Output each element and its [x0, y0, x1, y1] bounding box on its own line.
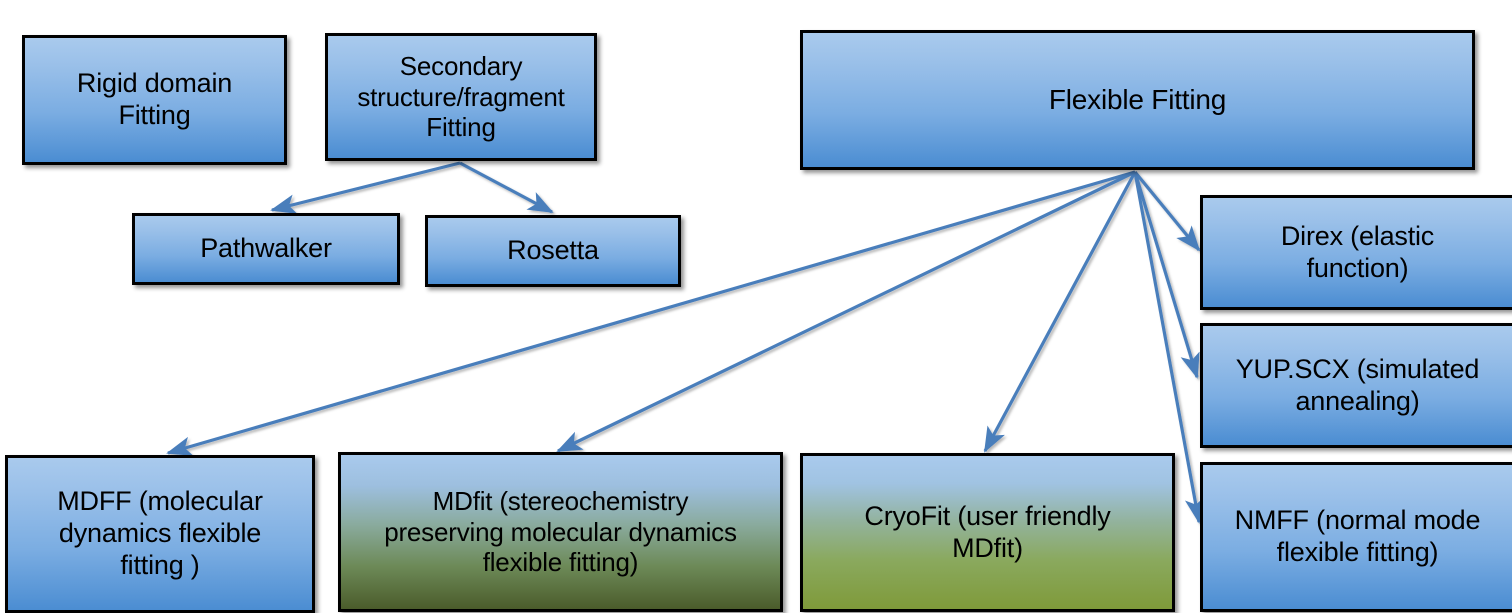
node-label-secondary-structure-fragment-fitting: Secondary structure/fragment Fitting	[357, 51, 564, 143]
edge-flexible-to-direx	[1135, 172, 1199, 250]
node-yup-scx[interactable]: YUP.SCX (simulated annealing)	[1200, 323, 1512, 448]
node-mdff[interactable]: MDFF (molecular dynamics flexible fittin…	[5, 455, 315, 613]
node-rosetta[interactable]: Rosetta	[425, 215, 681, 287]
node-label-nmff: NMFF (normal mode flexible fitting)	[1235, 505, 1481, 569]
node-label-cryofit: CryoFit (user friendly MDfit)	[864, 501, 1110, 565]
node-label-pathwalker: Pathwalker	[200, 233, 332, 265]
edge-flexible-to-cryofit	[985, 172, 1135, 451]
edge-flexible-to-mdfit	[558, 172, 1135, 451]
node-mdfit[interactable]: MDfit (stereochemistry preserving molecu…	[338, 452, 783, 612]
node-label-mdff: MDFF (molecular dynamics flexible fittin…	[57, 486, 263, 582]
node-label-rosetta: Rosetta	[507, 235, 599, 267]
node-nmff[interactable]: NMFF (normal mode flexible fitting)	[1200, 462, 1512, 612]
node-pathwalker[interactable]: Pathwalker	[132, 213, 400, 285]
node-label-rigid-domain-fitting: Rigid domain Fitting	[77, 68, 232, 132]
node-label-flexible-fitting: Flexible Fitting	[1049, 83, 1226, 116]
edge-secondary-to-pathwalker	[272, 163, 460, 210]
node-direx[interactable]: Direx (elastic function)	[1200, 195, 1512, 310]
edge-secondary-to-rosetta	[460, 163, 552, 212]
node-rigid-domain-fitting[interactable]: Rigid domain Fitting	[22, 35, 287, 165]
edge-flexible-to-yupscx	[1135, 172, 1197, 377]
node-label-direx: Direx (elastic function)	[1281, 221, 1434, 285]
node-secondary-structure-fragment-fitting[interactable]: Secondary structure/fragment Fitting	[325, 33, 597, 161]
node-flexible-fitting[interactable]: Flexible Fitting	[800, 30, 1475, 170]
node-label-mdfit: MDfit (stereochemistry preserving molecu…	[384, 486, 737, 578]
node-label-yup-scx: YUP.SCX (simulated annealing)	[1236, 354, 1480, 418]
node-cryofit[interactable]: CryoFit (user friendly MDfit)	[800, 453, 1175, 612]
diagram-canvas: Rigid domain FittingSecondary structure/…	[0, 0, 1512, 610]
